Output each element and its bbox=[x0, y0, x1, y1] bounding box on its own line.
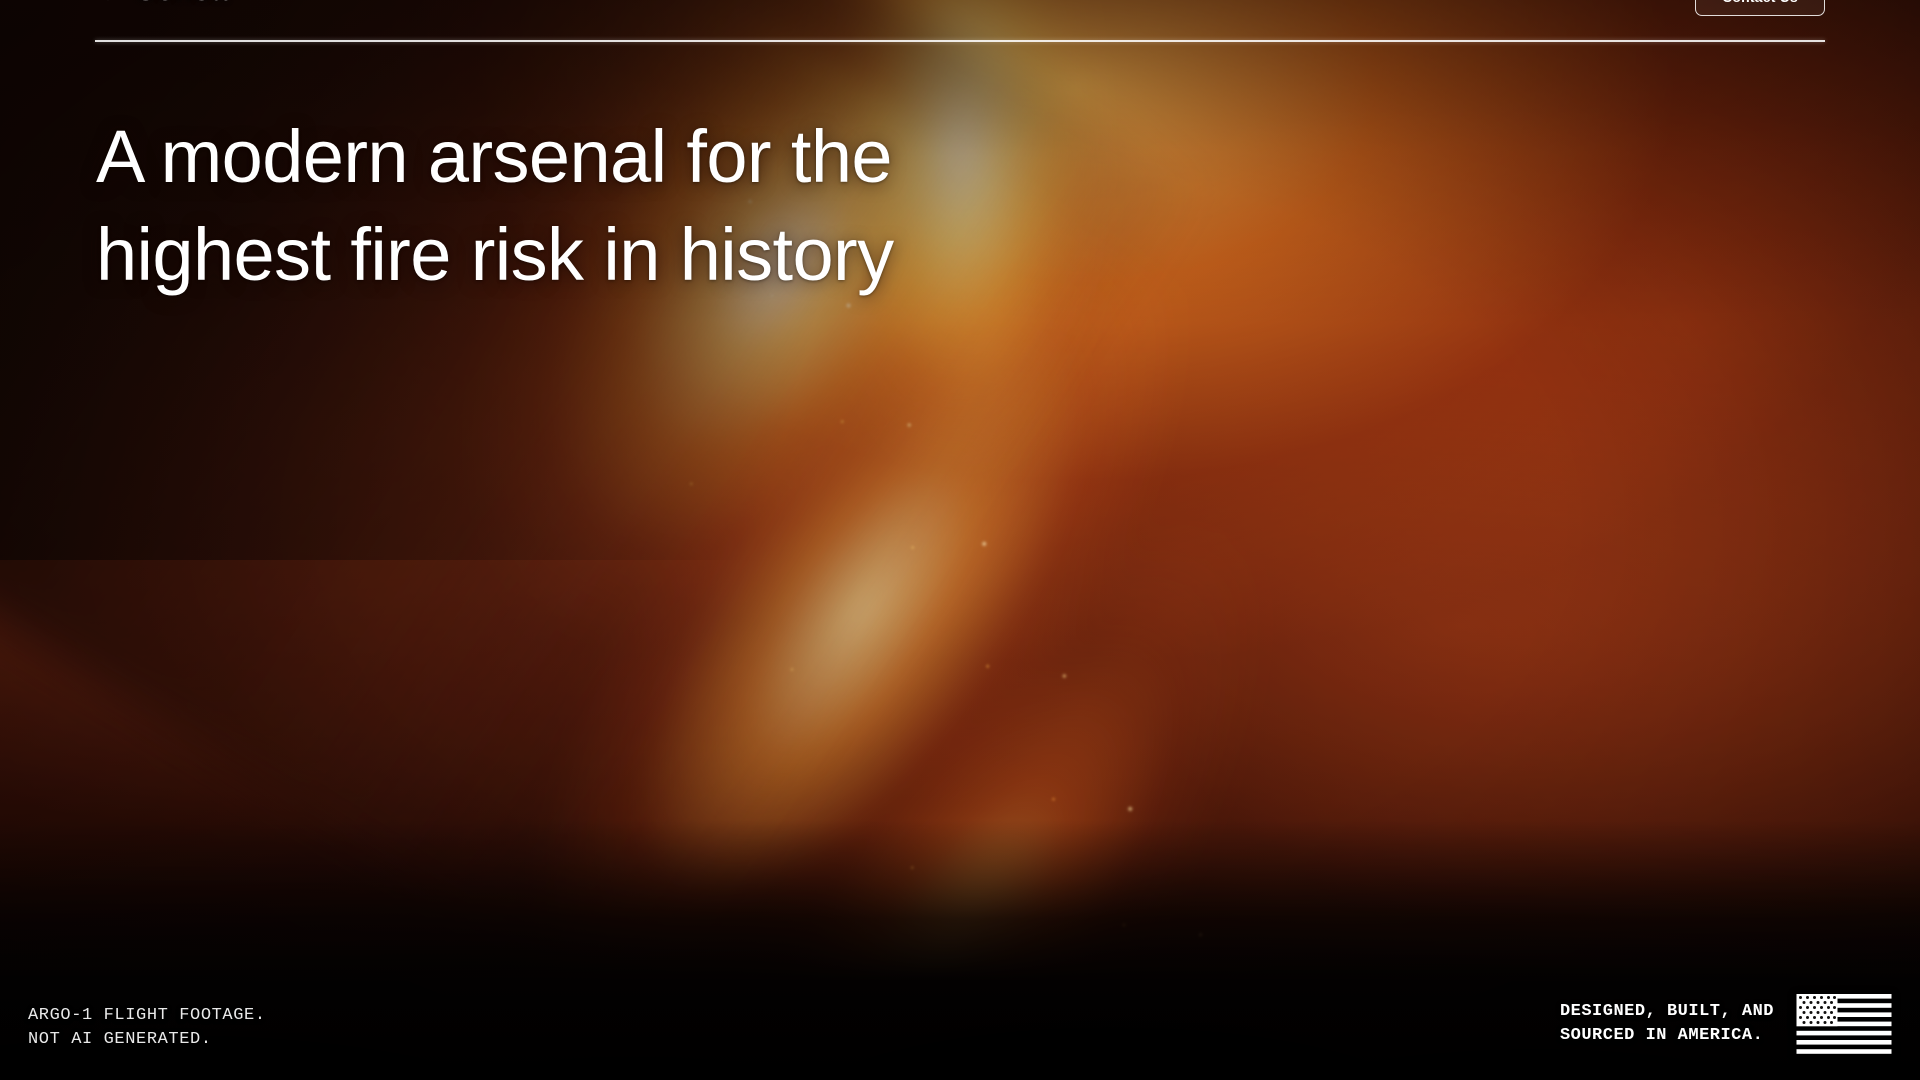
brand-logo[interactable]: Sensa bbox=[95, 0, 228, 2]
brand-name: Sensa bbox=[135, 0, 228, 2]
nav-divider bbox=[95, 40, 1825, 42]
made-in-america-text: DESIGNED, BUILT, AND SOURCED IN AMERICA. bbox=[1560, 1000, 1774, 1048]
hero-copy: A modern arsenal for the highest fire ri… bbox=[96, 108, 1296, 304]
contact-us-button[interactable]: Contact Us bbox=[1695, 0, 1825, 16]
made-in-america-badge: DESIGNED, BUILT, AND SOURCED IN AMERICA. bbox=[1560, 994, 1892, 1054]
page-title: A modern arsenal for the highest fire ri… bbox=[96, 108, 1296, 304]
footage-disclaimer-line-2: NOT AI GENERATED. bbox=[28, 1028, 266, 1052]
headline-line-2: highest fire risk in history bbox=[96, 206, 1296, 304]
made-in-america-line-1: DESIGNED, BUILT, AND bbox=[1560, 1000, 1774, 1024]
spark-icon bbox=[95, 0, 121, 2]
us-flag-icon bbox=[1796, 994, 1892, 1054]
hero-section: Sensa Contact Us A modern arsenal for th… bbox=[0, 0, 1920, 1080]
headline-line-1: A modern arsenal for the bbox=[96, 108, 1296, 206]
made-in-america-line-2: SOURCED IN AMERICA. bbox=[1560, 1024, 1774, 1048]
footage-disclaimer: ARGO-1 FLIGHT FOOTAGE. NOT AI GENERATED. bbox=[28, 1004, 266, 1052]
contact-us-label: Contact Us bbox=[1722, 0, 1798, 5]
footage-disclaimer-line-1: ARGO-1 FLIGHT FOOTAGE. bbox=[28, 1004, 266, 1028]
top-navigation-bar: Sensa Contact Us bbox=[0, 0, 1920, 48]
